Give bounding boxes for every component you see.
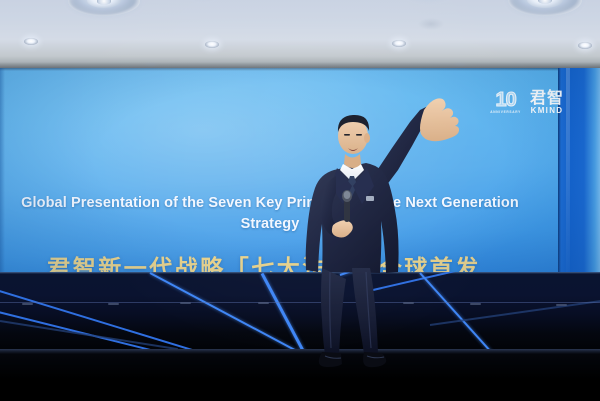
screen-left-edge: [0, 68, 5, 274]
floor-marker: [258, 302, 269, 304]
stage-floor: [0, 272, 600, 401]
anniversary-number: 10: [495, 91, 515, 109]
screen-right-panel: [558, 68, 600, 274]
floor-marker: [470, 303, 481, 305]
ceiling-texture: [452, 62, 468, 67]
floor-marker: [22, 303, 33, 305]
headline-chinese: 君智新一代战略「七大法则」全球首发: [0, 254, 528, 274]
brand-mark: 君智 KMIND: [530, 90, 564, 115]
anniversary-label: ANNIVERSARY: [490, 110, 521, 115]
floor-marker: [108, 303, 119, 305]
floor-grid-line: [360, 272, 600, 294]
ceiling-spotlight-icon: [68, 0, 140, 16]
floor-marker: [556, 304, 567, 306]
floor-seam-line: [0, 302, 600, 303]
ceiling-downlight-icon: [24, 38, 38, 45]
ceiling-downlight-icon: [392, 40, 406, 47]
ceiling-texture: [142, 62, 160, 67]
floor-marker: [403, 302, 414, 304]
presentation-photo: 10 ANNIVERSARY 君智 KMIND Global Presentat…: [0, 0, 600, 401]
brand-name-cn: 君智: [530, 90, 564, 106]
anniversary-mark: 10 ANNIVERSARY: [490, 91, 521, 114]
headline-english: Global Presentation of the Seven Key Pri…: [0, 193, 540, 235]
ceiling-downlight-icon: [205, 41, 219, 48]
kmind-logo: 10 ANNIVERSARY 君智 KMIND: [490, 90, 564, 115]
floor-grid-line: [0, 320, 178, 350]
brand-name-en: KMIND: [531, 107, 564, 115]
ceiling-spotlight-icon: [508, 0, 582, 16]
ceiling-downlight-icon: [578, 42, 592, 49]
ceiling-texture: [418, 18, 444, 30]
floor-marker: [180, 302, 191, 304]
led-backdrop-screen: 10 ANNIVERSARY 君智 KMIND Global Presentat…: [0, 68, 600, 274]
ceiling: [0, 0, 600, 72]
